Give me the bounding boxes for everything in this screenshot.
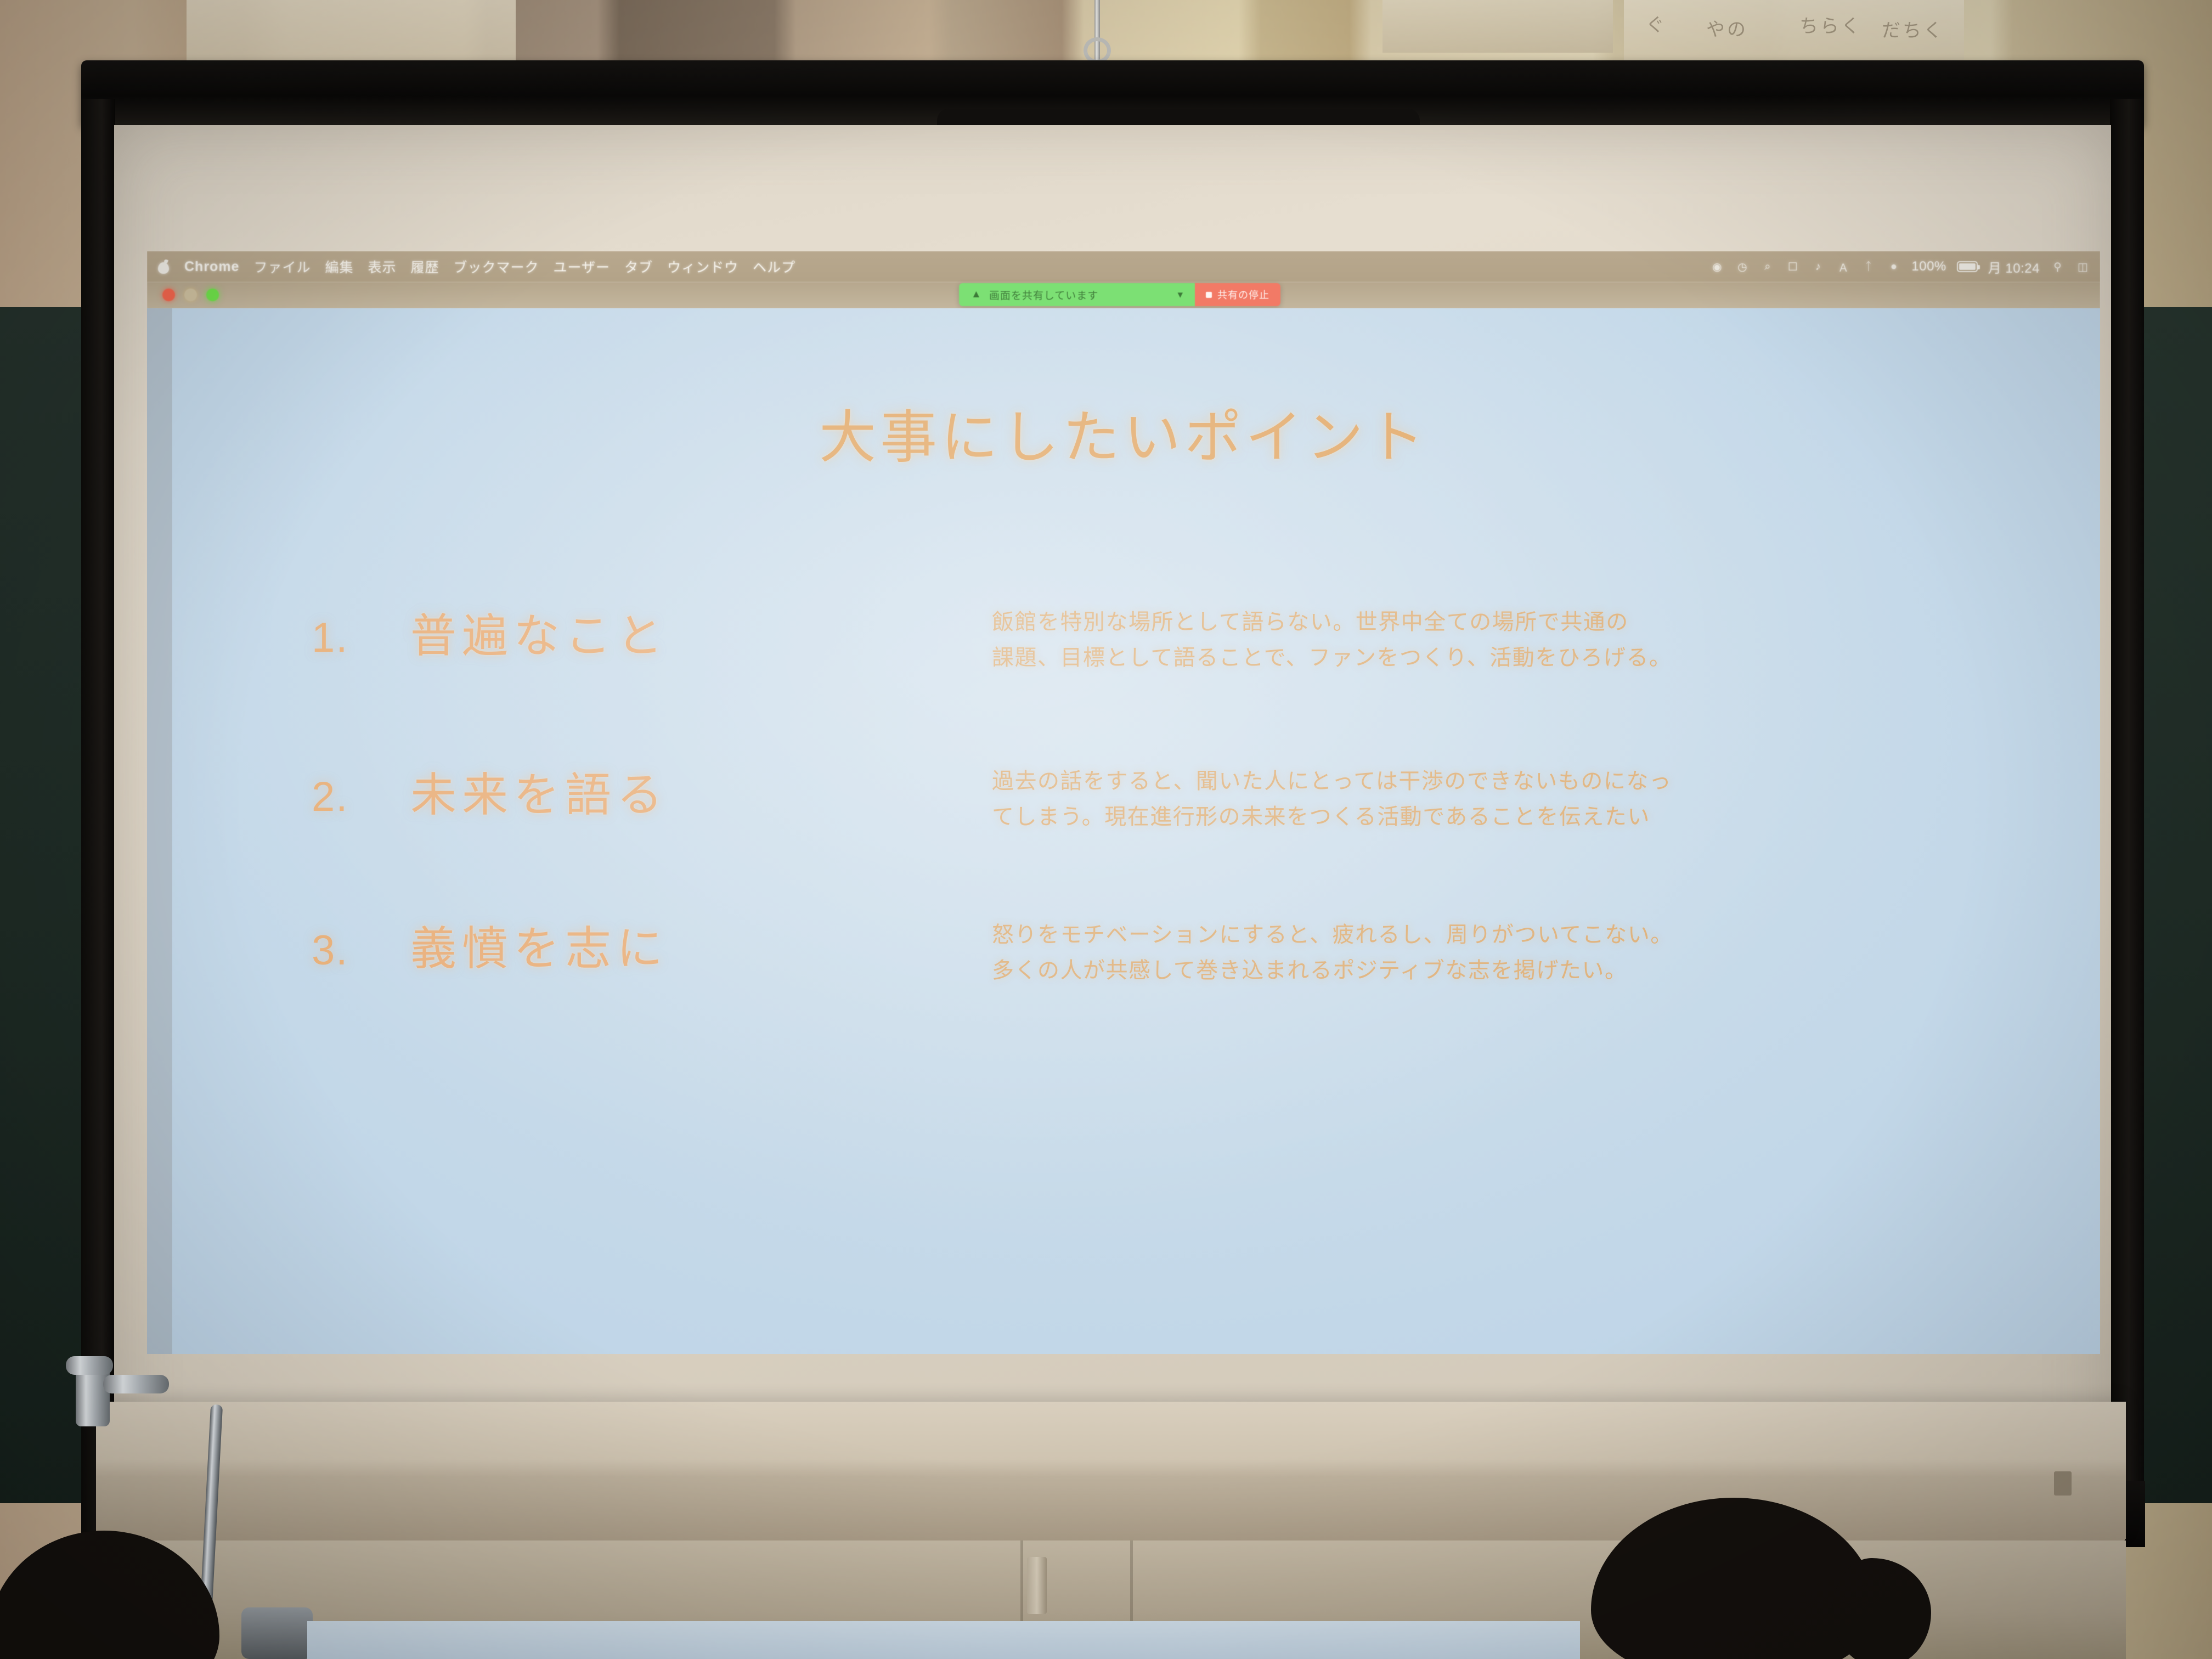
screen-share-banner: ▲ 画面を共有しています ▾ 共有の停止: [959, 283, 1280, 306]
point-2-headline: 未来を語る: [410, 758, 668, 825]
menu-item-window[interactable]: ウィンドウ: [667, 257, 738, 276]
screen-mirror-icon[interactable]: ☐: [1785, 260, 1800, 274]
point-3-detail: 怒りをモチベーションにすると、疲れるし、周りがついてこない。 多くの人が共感して…: [992, 912, 2100, 989]
slide-point-2: 2. 未来を語る: [147, 758, 992, 825]
point-2-detail-line-2: てしまう。現在進行形の未来をつくる活動であることを伝えたい: [992, 799, 2034, 835]
magnifier-icon[interactable]: ⌕: [1760, 260, 1775, 274]
screen-hook-ring: [1084, 37, 1111, 64]
macos-menubar: Chrome ファイル 編集 表示 履歴 ブックマーク ユーザー タブ ウィンド…: [147, 251, 2100, 282]
point-3-detail-line-2: 多くの人が共感して巻き込まれるポジティブな志を掲げたい。: [992, 953, 2034, 989]
share-screen-icon: ▲: [971, 289, 981, 301]
menu-item-tab[interactable]: タブ: [624, 257, 653, 276]
stop-square-icon: [1206, 292, 1212, 298]
wifi-icon[interactable]: ●: [1886, 260, 1901, 274]
menubar-status-area: ◉ ◷ ⌕ ☐ ♪ Ａ ᛏ ● 100% 月 10:24 ⚲ ◫: [1709, 257, 2090, 276]
menu-item-edit[interactable]: 編集: [325, 257, 353, 276]
slide-point-row: 2. 未来を語る 過去の話をすると、聞いた人にとっては干渉のできないものになっ …: [147, 758, 2100, 835]
minimize-button[interactable]: [184, 289, 197, 301]
wall-note-1: やの: [1706, 14, 1748, 41]
menu-item-file[interactable]: ファイル: [253, 257, 311, 276]
point-1-detail: 飯館を特別な場所として語らない。世界中全ての場所で共通の 課題、目標として語るこ…: [992, 599, 2100, 676]
cabinet-handle[interactable]: [1027, 1557, 1047, 1614]
wall-poster-left: [187, 0, 516, 60]
point-2-detail-line-1: 過去の話をすると、聞いた人にとっては干渉のできないものになっ: [992, 764, 2034, 799]
point-1-detail-line-2: 課題、目標として語ることで、ファンをつくり、活動をひろげる。: [992, 640, 2034, 676]
battery-icon[interactable]: [1957, 261, 1978, 272]
stop-share-label: 共有の停止: [1217, 287, 1269, 302]
input-source-icon[interactable]: Ａ: [1836, 260, 1850, 274]
menubar-menus: Chrome ファイル 編集 表示 履歴 ブックマーク ユーザー タブ ウィンド…: [157, 257, 795, 276]
slide-point-row: 1. 普遍なこと 飯館を特別な場所として語らない。世界中全ての場所で共通の 課題…: [147, 599, 2100, 676]
menu-item-chrome[interactable]: Chrome: [184, 259, 239, 275]
bluetooth-icon[interactable]: ᛏ: [1861, 260, 1876, 274]
battery-percent-label: 100%: [1911, 259, 1946, 274]
sink-faucet: [65, 1355, 169, 1437]
menubar-clock[interactable]: 月 10:24: [1988, 257, 2040, 276]
point-1-headline: 普遍なこと: [410, 599, 668, 665]
menu-item-view[interactable]: 表示: [368, 257, 397, 276]
screen-rail-right: [2110, 99, 2144, 1525]
control-center-icon[interactable]: ◫: [2075, 260, 2090, 274]
menu-item-profiles[interactable]: ユーザー: [554, 257, 611, 276]
menu-item-bookmarks[interactable]: ブックマーク: [454, 257, 539, 276]
share-status-label: 画面を共有しています: [989, 287, 1170, 302]
wall-poster-center: [1383, 0, 1613, 53]
faucet-knob[interactable]: [66, 1356, 113, 1375]
point-2-detail: 過去の話をすると、聞いた人にとっては干渉のできないものになっ てしまう。現在進行…: [992, 758, 2100, 835]
clock-icon[interactable]: ◷: [1735, 260, 1750, 274]
point-2-number: 2.: [312, 773, 410, 821]
slide-body: 1. 普遍なこと 飯館を特別な場所として語らない。世界中全ての場所で共通の 課題…: [147, 599, 2100, 1104]
menu-item-history[interactable]: 履歴: [411, 257, 439, 276]
wall-note-2: ちらく: [1799, 11, 1862, 38]
point-1-number: 1.: [312, 614, 410, 662]
faucet-spout: [103, 1375, 169, 1393]
volume-icon[interactable]: ♪: [1810, 260, 1825, 274]
slide-title: 大事にしたいポイント: [147, 391, 2100, 473]
slide-point-1: 1. 普遍なこと: [147, 599, 992, 665]
presentation-slide: 大事にしたいポイント 1. 普遍なこと 飯館を特別な場所として語らない。世界中全…: [147, 308, 2100, 1354]
slide-point-row: 3. 義憤を志に 怒りをモチベーションにすると、疲れるし、周りがついてこない。 …: [147, 912, 2100, 989]
point-3-number: 3.: [312, 927, 410, 974]
wall-outlet: [2054, 1471, 2072, 1496]
chevron-icon[interactable]: ▾: [1177, 289, 1183, 301]
share-status-pill[interactable]: ▲ 画面を共有しています ▾: [959, 283, 1195, 306]
projector-screen-roller-case: [81, 60, 2144, 125]
wall-note-0: ぐ: [1646, 10, 1667, 37]
screen-record-icon[interactable]: ◉: [1709, 260, 1724, 274]
close-button[interactable]: [162, 289, 175, 301]
stop-share-button[interactable]: 共有の停止: [1195, 283, 1280, 306]
wall-note-3: だちく: [1882, 15, 1944, 42]
foreground-desk: [307, 1621, 1580, 1659]
apple-logo-icon[interactable]: [157, 259, 170, 274]
search-icon[interactable]: ⚲: [2050, 260, 2065, 274]
slide-point-3: 3. 義憤を志に: [147, 912, 992, 978]
stand-clamp: [241, 1607, 313, 1659]
point-3-detail-line-1: 怒りをモチベーションにすると、疲れるし、周りがついてこない。: [992, 917, 2034, 953]
point-1-detail-line-1: 飯館を特別な場所として語らない。世界中全ての場所で共通の: [992, 605, 2034, 640]
menu-item-help[interactable]: ヘルプ: [753, 257, 795, 276]
window-traffic-lights: [162, 289, 219, 301]
projected-desktop: Chrome ファイル 編集 表示 履歴 ブックマーク ユーザー タブ ウィンド…: [147, 251, 2100, 1354]
zoom-button[interactable]: [206, 289, 219, 301]
point-3-headline: 義憤を志に: [410, 912, 668, 978]
wall-poster-right: ぐ やの ちらく だちく: [1624, 0, 1964, 61]
chalkboard-right-edge: [2132, 307, 2212, 1503]
